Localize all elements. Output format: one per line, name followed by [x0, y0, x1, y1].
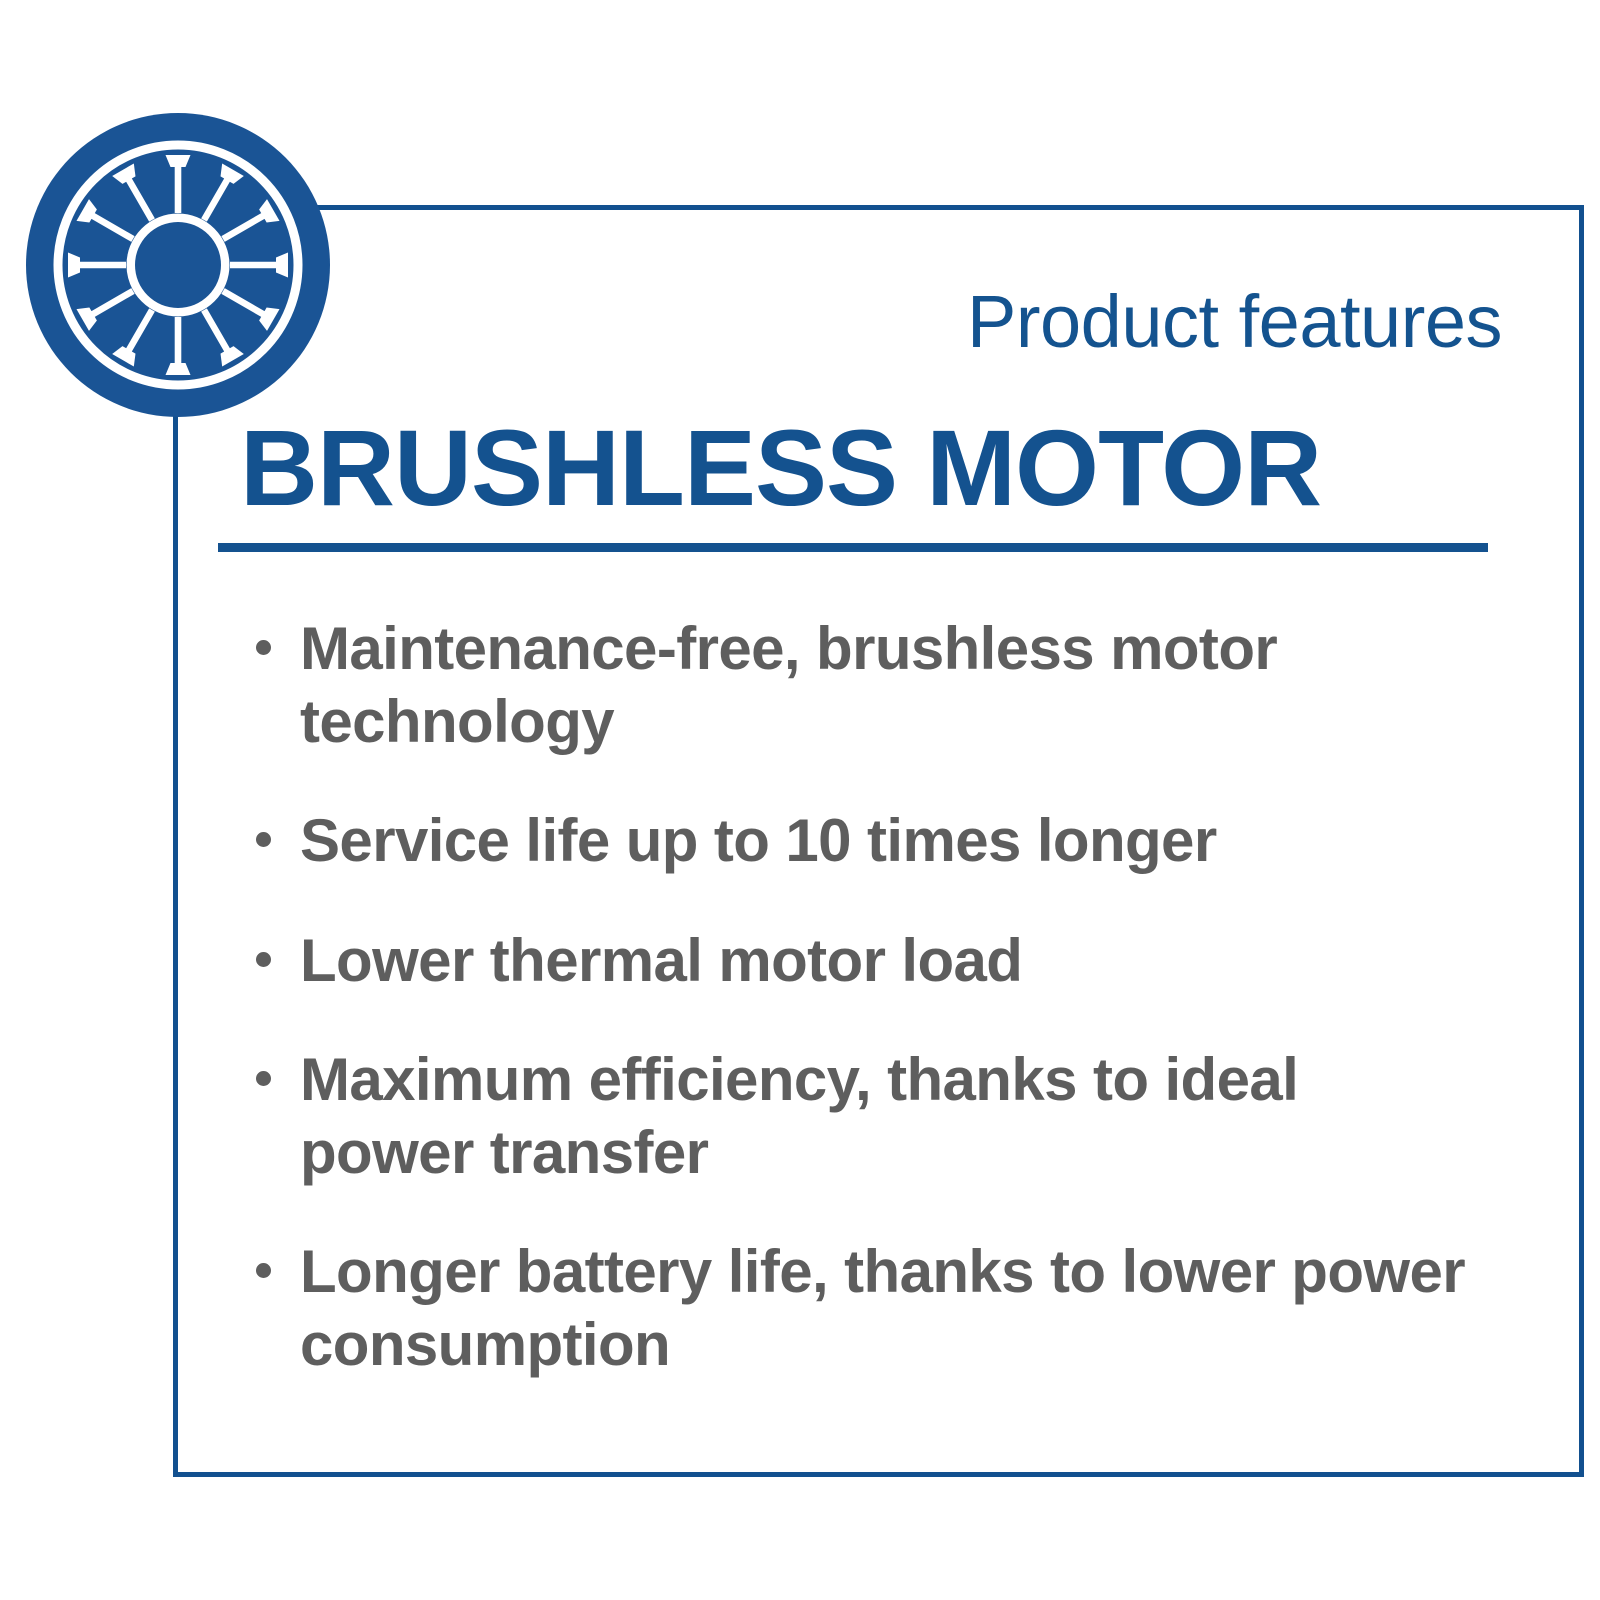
page-title: BRUSHLESS MOTOR	[240, 412, 1500, 524]
list-item-label: Service life up to 10 times longer	[300, 804, 1478, 877]
bullet-dot-icon	[256, 640, 271, 655]
list-item: Maximum efficiency, thanks to ideal powe…	[248, 1043, 1478, 1189]
product-feature-card: Product features BRUSHLESS MOTOR Mainten…	[0, 0, 1600, 1600]
list-item: Lower thermal motor load	[248, 924, 1478, 997]
bullet-dot-icon	[256, 1263, 271, 1278]
list-item-label: Lower thermal motor load	[300, 924, 1478, 997]
brushless-motor-rotor-icon	[25, 112, 331, 418]
list-item-label: Maintenance-free, brushless motor techno…	[300, 612, 1478, 758]
list-item: Maintenance-free, brushless motor techno…	[248, 612, 1478, 758]
list-item-label: Maximum efficiency, thanks to ideal powe…	[300, 1043, 1478, 1189]
list-item: Longer battery life, thanks to lower pow…	[248, 1235, 1478, 1381]
bullet-dot-icon	[256, 1071, 271, 1086]
title-underline-rule	[218, 543, 1488, 552]
feature-list: Maintenance-free, brushless motor techno…	[248, 612, 1478, 1382]
list-item: Service life up to 10 times longer	[248, 804, 1478, 877]
list-item-label: Longer battery life, thanks to lower pow…	[300, 1235, 1478, 1381]
kicker-label: Product features	[967, 285, 1502, 359]
bullet-dot-icon	[256, 832, 271, 847]
bullet-dot-icon	[256, 952, 271, 967]
